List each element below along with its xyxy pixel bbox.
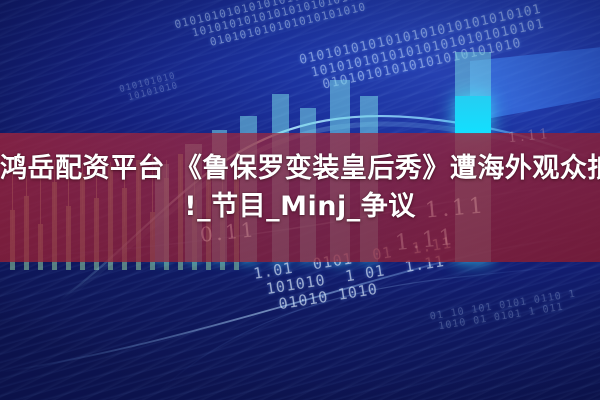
banner-image: 01010101010101010101010101 1010101010101… [0,0,600,400]
headline-line-2: !_节目_Minj_争议 [0,188,600,226]
headline-text: 鸿岳配资平台 《鲁保罗变装皇后秀》遭海外观众抵制 !_节目_Minj_争议 [0,150,600,226]
headline-line-1: 鸿岳配资平台 《鲁保罗变装皇后秀》遭海外观众抵制 [0,150,600,188]
